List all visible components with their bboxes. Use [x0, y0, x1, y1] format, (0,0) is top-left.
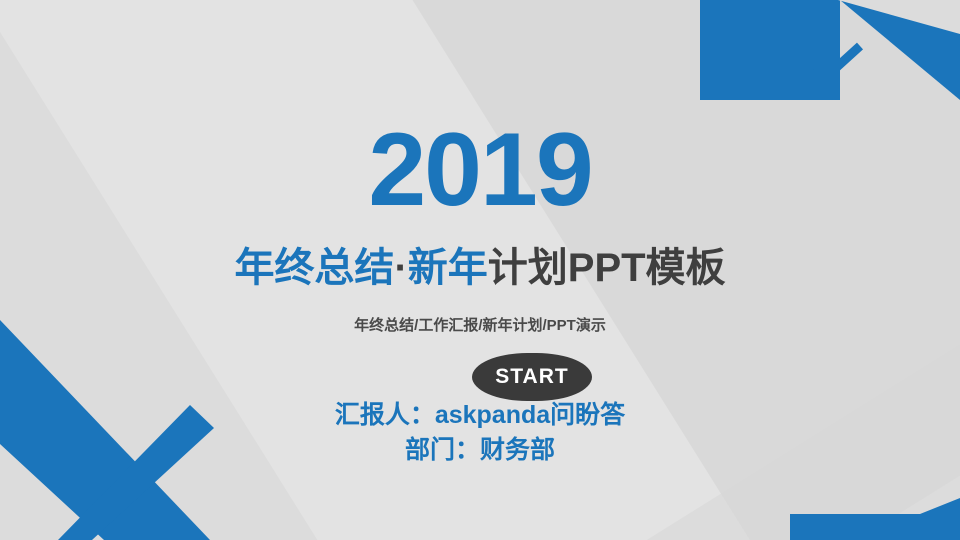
- main-title-separator: ·: [394, 246, 407, 290]
- main-title-part3: 计划PPT模板: [488, 246, 726, 290]
- reporter-department: 部门：财务部: [0, 433, 960, 468]
- reporter-info: 汇报人：askpanda问盼答 部门：财务部: [0, 398, 960, 467]
- reporter-name: 汇报人：askpanda问盼答: [0, 398, 960, 433]
- presentation-slide: 2019 年终总结·新年计划PPT模板 年终总结/工作汇报/新年计划/PPT演示…: [0, 0, 960, 540]
- main-title-part1: 年终总结: [234, 246, 394, 290]
- year-heading: 2019: [0, 118, 960, 222]
- main-title-part2: 新年: [408, 246, 488, 290]
- subtitle: 年终总结/工作汇报/新年计划/PPT演示: [0, 314, 960, 335]
- start-button[interactable]: START: [472, 353, 592, 401]
- main-title: 年终总结·新年计划PPT模板: [0, 246, 960, 290]
